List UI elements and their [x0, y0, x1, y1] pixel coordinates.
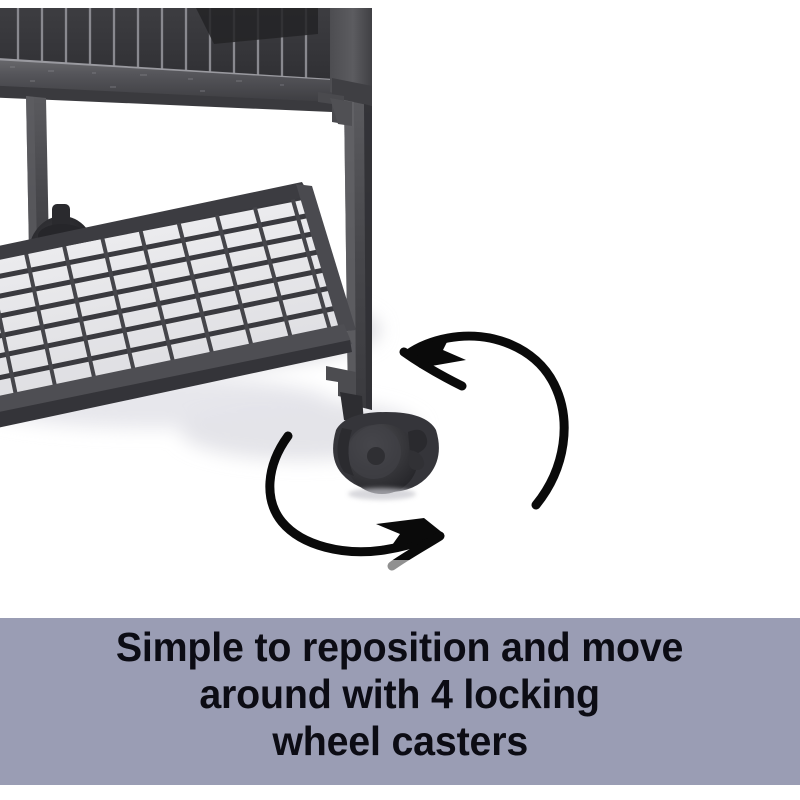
product-feature-image: Simple to reposition and move around wit…: [0, 0, 800, 800]
cage-stand-illustration: [0, 0, 800, 618]
product-photo: [0, 0, 800, 618]
caption-line-3: wheel casters: [272, 718, 528, 765]
caption-line-1: Simple to reposition and move: [116, 624, 683, 671]
caption-line-2: around with 4 locking: [200, 671, 601, 718]
cage-bottom-section: [0, 8, 332, 112]
caption-band: Simple to reposition and move around wit…: [0, 618, 800, 785]
caster-contact-shadow: [348, 488, 416, 500]
bottom-white-strip: [0, 785, 800, 800]
caster-hub: [367, 447, 385, 465]
photo-bottom-fade: [0, 560, 800, 618]
